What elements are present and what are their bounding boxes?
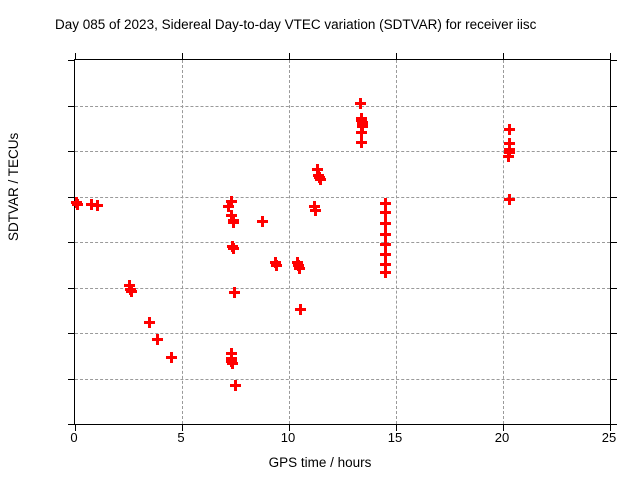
data-point: [226, 210, 237, 221]
data-point: [503, 151, 514, 162]
y-tick-right: [610, 424, 617, 425]
y-tick: [68, 197, 75, 198]
data-point: [504, 144, 515, 155]
data-point: [295, 304, 306, 315]
data-point: [229, 287, 240, 298]
data-point: [357, 119, 368, 130]
data-point: [72, 199, 83, 210]
y-tick: [68, 333, 75, 334]
data-point: [357, 121, 368, 132]
x-tick-label: 5: [177, 430, 184, 445]
data-point: [230, 380, 241, 391]
gridline-vertical: [396, 60, 397, 424]
data-point: [380, 267, 391, 278]
data-point: [226, 353, 237, 364]
x-tick-top: [503, 53, 504, 60]
data-point: [356, 115, 367, 126]
data-point: [312, 164, 323, 175]
gridline-vertical: [182, 60, 183, 424]
x-tick-label: 10: [281, 430, 295, 445]
y-tick: [68, 424, 75, 425]
gridline-horizontal: [75, 106, 610, 107]
y-tick-right: [610, 288, 617, 289]
x-tick-top: [182, 53, 183, 60]
data-point: [356, 137, 367, 148]
y-tick: [68, 379, 75, 380]
gridline-vertical: [503, 60, 504, 424]
data-point: [223, 201, 234, 212]
data-point: [356, 113, 367, 124]
data-point: [504, 194, 515, 205]
y-tick-right: [610, 151, 617, 152]
data-point: [380, 259, 391, 270]
data-point: [313, 170, 324, 181]
y-tick: [68, 151, 75, 152]
x-tick-top: [396, 53, 397, 60]
plot-area: [74, 59, 611, 425]
data-point: [504, 138, 515, 149]
data-point: [380, 249, 391, 260]
y-tick-right: [610, 60, 617, 61]
data-point: [357, 117, 368, 128]
data-point: [227, 241, 238, 252]
data-point: [314, 172, 325, 183]
gridline-horizontal: [75, 288, 610, 289]
data-point: [294, 263, 305, 274]
data-point: [152, 334, 163, 345]
data-point: [310, 205, 321, 216]
x-tick-top: [610, 53, 611, 60]
data-point: [355, 98, 366, 109]
data-point: [271, 260, 282, 271]
x-tick-label: 15: [388, 430, 402, 445]
data-point: [227, 358, 238, 369]
y-tick-right: [610, 106, 617, 107]
data-point: [380, 207, 391, 218]
data-point: [270, 257, 281, 268]
page-title: Day 085 of 2023, Sidereal Day-to-day VTE…: [55, 17, 536, 33]
y-tick: [68, 288, 75, 289]
data-point: [504, 147, 515, 158]
data-point: [380, 198, 391, 209]
data-point: [226, 348, 237, 359]
gridline-horizontal: [75, 379, 610, 380]
data-point: [356, 127, 367, 138]
x-tick-label: 25: [602, 430, 616, 445]
x-tick-label: 0: [70, 430, 77, 445]
data-point: [124, 280, 135, 291]
y-tick-right: [610, 379, 617, 380]
x-axis-label: GPS time / hours: [0, 455, 640, 470]
data-point: [228, 217, 239, 228]
data-point: [315, 174, 326, 185]
y-tick: [68, 60, 75, 61]
data-point: [226, 356, 237, 367]
data-point: [166, 352, 177, 363]
y-tick-right: [610, 242, 617, 243]
data-point: [228, 243, 239, 254]
data-point: [226, 196, 237, 207]
x-tick-label: 20: [495, 430, 509, 445]
x-tick-top: [75, 53, 76, 60]
data-point: [504, 124, 515, 135]
data-point: [86, 199, 97, 210]
data-point: [144, 317, 155, 328]
data-point: [292, 257, 303, 268]
gridline-horizontal: [75, 197, 610, 198]
x-tick-top: [289, 53, 290, 60]
gridline-horizontal: [75, 242, 610, 243]
data-point: [125, 284, 136, 295]
data-point: [257, 216, 268, 227]
y-axis-label: SDTVAR / TECUs: [6, 133, 21, 241]
gridline-horizontal: [75, 151, 610, 152]
gridline-vertical: [289, 60, 290, 424]
plot-container: Day 085 of 2023, Sidereal Day-to-day VTE…: [0, 0, 640, 480]
data-point: [380, 239, 391, 250]
y-tick-right: [610, 333, 617, 334]
data-point: [228, 215, 239, 226]
data-point: [380, 218, 391, 229]
y-tick-right: [610, 197, 617, 198]
y-tick: [68, 106, 75, 107]
y-tick: [68, 242, 75, 243]
data-point: [309, 201, 320, 212]
data-point: [293, 260, 304, 271]
gridline-horizontal: [75, 333, 610, 334]
data-point: [380, 229, 391, 240]
data-point: [71, 197, 82, 208]
data-point: [92, 200, 103, 211]
data-point: [126, 286, 137, 297]
